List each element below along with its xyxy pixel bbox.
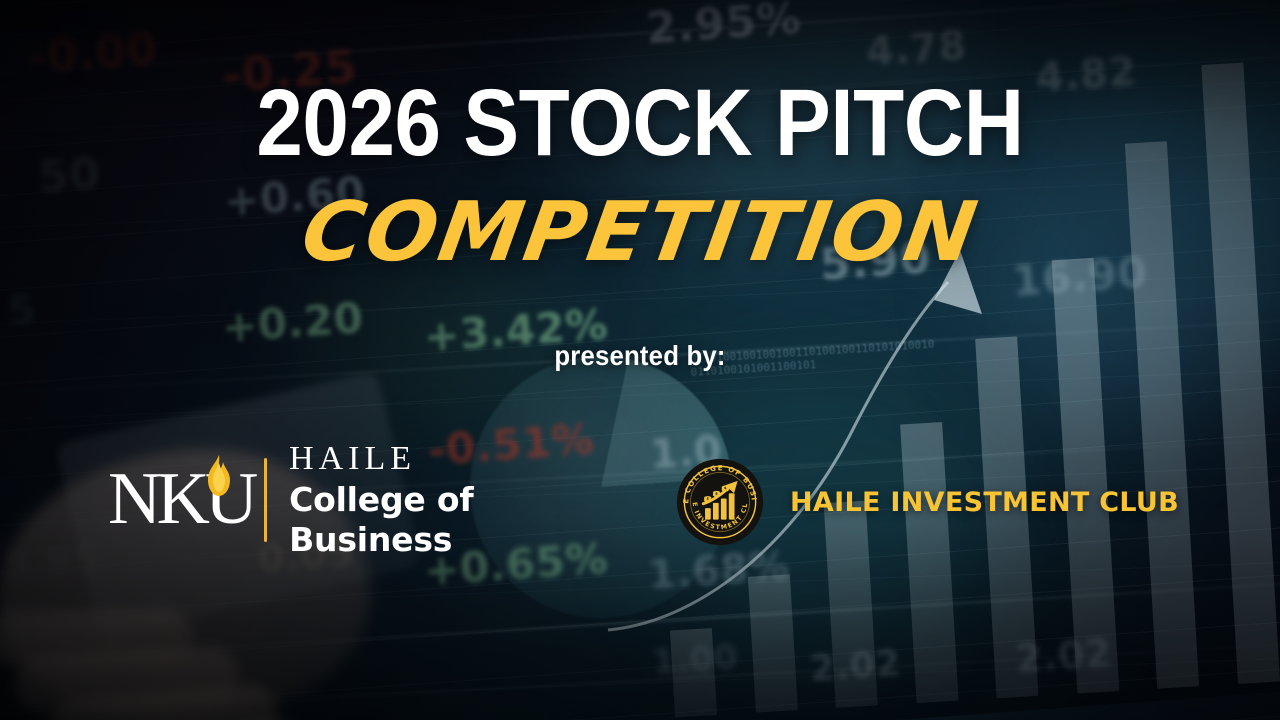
- page-title: 2026 STOCK PITCH: [77, 76, 1203, 170]
- nku-haile-logo: NKU HAILE College of Business: [108, 452, 608, 548]
- page-subtitle: COMPETITION: [0, 178, 1280, 288]
- school-name: HAILE: [289, 440, 608, 478]
- logo-divider: [264, 458, 267, 542]
- college-name: College of Business: [289, 480, 608, 560]
- stock-pitch-poster: 0110100100100100110100100110101010010011…: [0, 0, 1280, 720]
- logo-text-block: HAILE College of Business: [289, 440, 608, 560]
- presented-by-label: presented by:: [51, 340, 1229, 372]
- club-name-label: HAILE INVESTMENT CLUB: [790, 487, 1179, 518]
- svg-text:$: $: [715, 490, 718, 495]
- poster-content: 2026 STOCK PITCH COMPETITION presented b…: [0, 0, 1280, 720]
- flame-icon: [206, 454, 232, 498]
- svg-text:$: $: [706, 496, 709, 501]
- nku-wordmark: NKU: [108, 458, 248, 542]
- haile-investment-club-logo: HAILE COLLEGE OF BUSINESS THE INVESTMENT…: [676, 458, 1179, 546]
- svg-text:$: $: [724, 485, 727, 490]
- club-badge-icon: HAILE COLLEGE OF BUSINESS THE INVESTMENT…: [676, 458, 764, 546]
